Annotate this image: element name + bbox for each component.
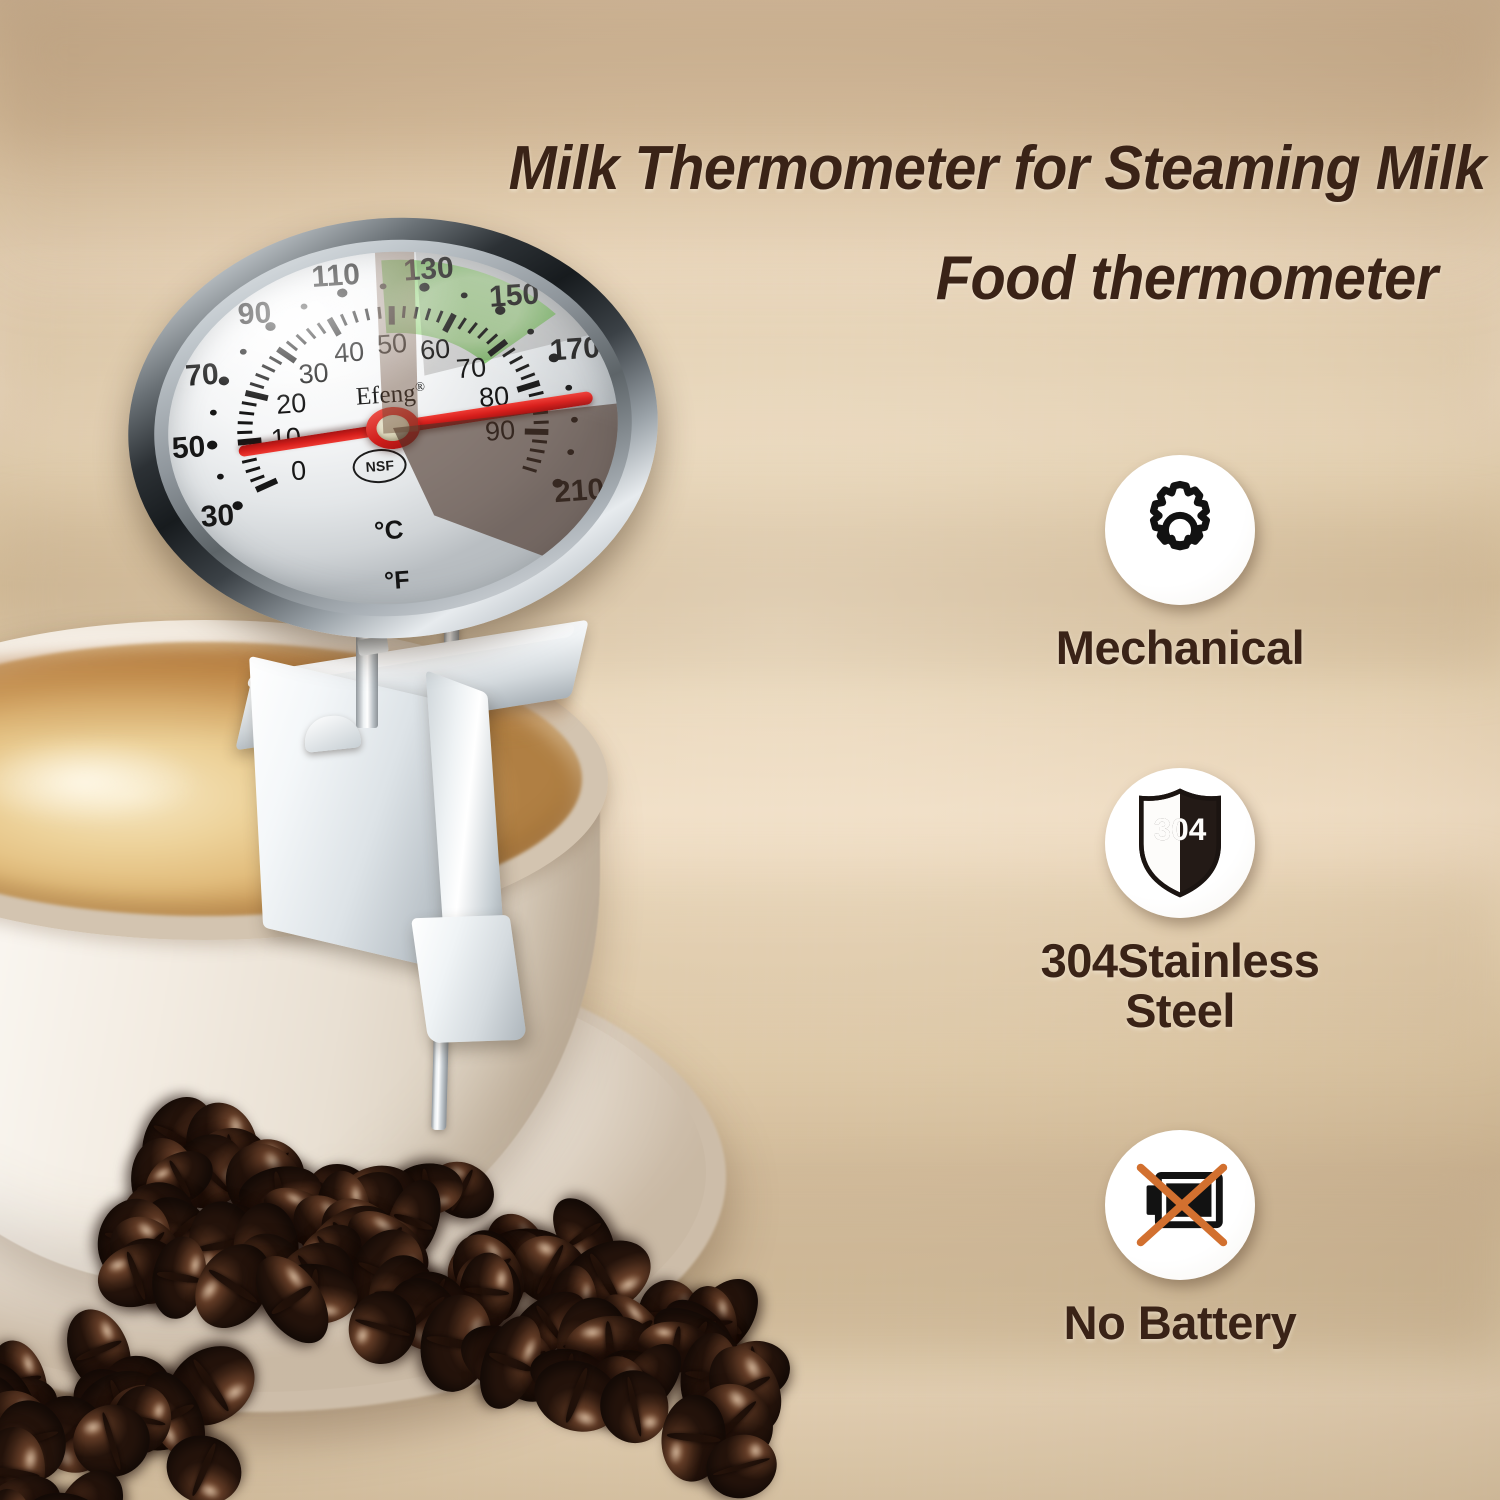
- bean-highlight: [79, 1414, 115, 1443]
- milk-thermometer: 30507090110130150170210 0102030405060708…: [120, 210, 700, 1070]
- feature-label: No Battery: [970, 1298, 1390, 1348]
- headline-secondary: Food thermometer: [936, 243, 1438, 314]
- bean-highlight: [190, 1473, 226, 1500]
- feature-stainless-steel: 304 304 304Stainless Steel: [970, 768, 1390, 1036]
- clip-tail-plate: [411, 915, 527, 1043]
- feature-icon-circle: 304 304: [1105, 768, 1255, 918]
- gear-icon: [1126, 476, 1234, 584]
- product-marketing-image: Milk Thermometer for Steaming Milk Food …: [0, 0, 1500, 1500]
- needle-group: [156, 237, 629, 620]
- shield-304-icon: 304 304: [1128, 787, 1232, 899]
- feature-icon-circle: [1105, 455, 1255, 605]
- bean-highlight: [632, 1407, 663, 1434]
- bean-highlight: [577, 1323, 614, 1345]
- feature-mechanical: Mechanical: [970, 455, 1390, 673]
- feature-label-line2: Steel: [970, 986, 1390, 1036]
- bean-highlight: [651, 1324, 683, 1343]
- shield-number-right: 304: [1154, 811, 1207, 847]
- feature-no-battery: No Battery: [970, 1130, 1390, 1348]
- bean-highlight: [210, 1373, 253, 1412]
- dial-face: 30507090110130150170210 0102030405060708…: [156, 237, 629, 620]
- thermometer-dial: 30507090110130150170210 0102030405060708…: [114, 200, 672, 656]
- feature-label-line1: 304Stainless: [970, 936, 1390, 986]
- feature-label: 304Stainless Steel: [970, 936, 1390, 1036]
- bean-highlight: [195, 1267, 232, 1308]
- bean-highlight: [741, 1439, 768, 1469]
- bean-highlight: [92, 1315, 121, 1353]
- feature-label: Mechanical: [970, 623, 1390, 673]
- headline-primary: Milk Thermometer for Steaming Milk: [509, 133, 1486, 204]
- bean-highlight: [719, 1384, 758, 1423]
- bean-highlight: [667, 1430, 689, 1467]
- no-battery-icon: [1121, 1149, 1239, 1261]
- bean-highlight: [351, 1316, 378, 1350]
- coffee-beans-group: [50, 1020, 750, 1480]
- feature-icon-circle: [1105, 1130, 1255, 1280]
- bean-highlight: [145, 1398, 167, 1428]
- bean-highlight: [490, 1266, 509, 1299]
- bean-highlight: [563, 1400, 603, 1432]
- bean-highlight: [530, 1236, 566, 1268]
